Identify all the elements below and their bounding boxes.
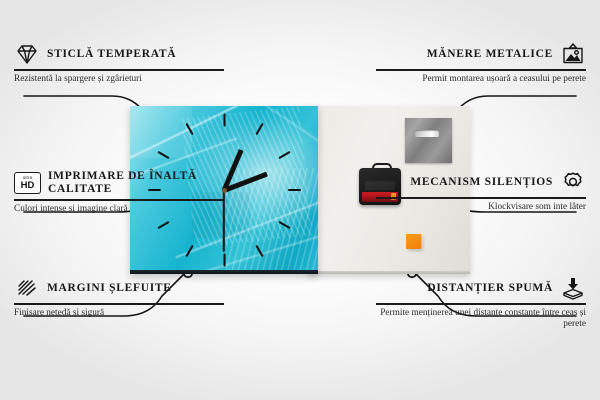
clock-marker xyxy=(288,189,301,191)
callout-title: STICLĂ TEMPERATĂ xyxy=(47,48,176,61)
callout-rule xyxy=(376,69,586,71)
callout-foam-spacer: DISTANȚIER SPUMĂ Permite menținerea unei… xyxy=(376,276,586,330)
callout-subtitle: Permit montarea ușoară a ceasului pe per… xyxy=(376,74,586,85)
callout-subtitle: Permite menținerea unei distanțe constan… xyxy=(376,308,586,331)
callout-rule xyxy=(14,303,224,305)
callout-title: MECANISM SILENȚIOS xyxy=(410,176,553,189)
clock-marker xyxy=(223,254,225,267)
callout-title: IMPRIMARE DE ÎNALTĂ CALITATE xyxy=(48,170,224,196)
foam-spacer-part xyxy=(406,234,421,249)
metal-hanger-part xyxy=(405,118,452,163)
callout-rule xyxy=(376,197,586,199)
callout-rule xyxy=(14,199,224,201)
callout-subtitle: Culori intense și imagine clară xyxy=(14,204,224,215)
callout-subtitle: Rezistentă la spargere și zgârieturi xyxy=(14,74,224,85)
hanger-slot xyxy=(415,130,439,137)
callout-high-quality-print: ultra HD IMPRIMARE DE ÎNALTĂ CALITATE Cu… xyxy=(14,170,224,215)
callout-metal-handles: MĂNERE METALICE Permit montarea ușoară a… xyxy=(376,42,586,85)
callout-subtitle: Finisare netedă și sigură xyxy=(14,308,224,319)
callout-tempered-glass: STICLĂ TEMPERATĂ Rezistentă la spargere … xyxy=(14,42,224,85)
picture-hanger-icon xyxy=(560,42,586,66)
callout-silent-mechanism: MECANISM SILENȚIOS Klockvisare som inte … xyxy=(376,170,586,213)
clock-pivot xyxy=(222,188,227,193)
gear-icon xyxy=(560,170,586,194)
infographic-canvas: STICLĂ TEMPERATĂ Rezistentă la spargere … xyxy=(0,0,600,400)
ultra-hd-badge-icon: ultra HD xyxy=(14,172,41,194)
callout-title: MARGINI ȘLEFUITE xyxy=(47,282,172,295)
clock-marker xyxy=(223,114,225,127)
badge-large-text: HD xyxy=(21,181,35,191)
clock-marker xyxy=(157,221,169,229)
diamond-icon xyxy=(14,42,40,66)
callout-rule xyxy=(376,303,586,305)
callout-title: DISTANȚIER SPUMĂ xyxy=(427,282,553,295)
callout-polished-edges: MARGINI ȘLEFUITE Finisare netedă și sigu… xyxy=(14,276,224,319)
down-arrow-pad-icon xyxy=(560,276,586,300)
polished-edges-icon xyxy=(14,276,40,300)
callout-rule xyxy=(14,69,224,71)
callout-title: MĂNERE METALICE xyxy=(427,48,553,61)
callout-subtitle: Klockvisare som inte låter xyxy=(376,202,586,213)
